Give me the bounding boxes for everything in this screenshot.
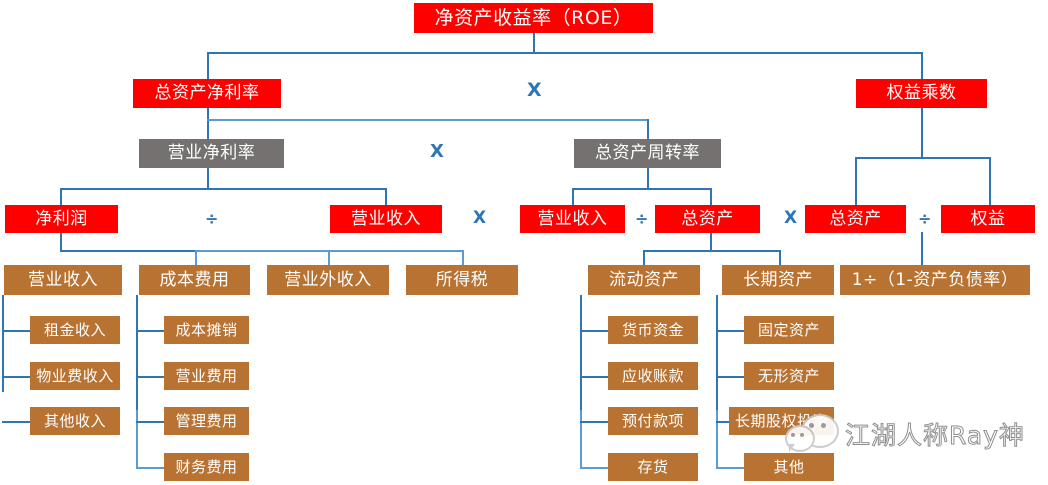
node-operating-revenue-l5[interactable]: 营业收入 bbox=[4, 265, 122, 295]
leaf-operating-expense[interactable]: 营业费用 bbox=[164, 362, 249, 390]
leaf-fixed-assets[interactable]: 固定资产 bbox=[744, 316, 834, 344]
connector-lta-leaf-stem bbox=[716, 295, 718, 412]
connector-to-asset-turnover bbox=[647, 119, 649, 139]
watermark: 江湖人称Ray神 bbox=[785, 412, 1025, 456]
wechat-eye-4 bbox=[800, 433, 804, 437]
connector-onpr-bus bbox=[60, 188, 387, 190]
connector-ca-leaf-4 bbox=[580, 467, 608, 469]
connector-to-total-assets-eq bbox=[855, 157, 857, 206]
connector-oprev-leaf-1 bbox=[2, 330, 30, 332]
node-net-profit[interactable]: 净利润 bbox=[5, 205, 118, 233]
node-equity[interactable]: 权益 bbox=[941, 205, 1035, 233]
node-roe[interactable]: 净资产收益率（ROE） bbox=[414, 3, 653, 33]
connector-onpr-stem bbox=[207, 168, 209, 190]
connector-tat-bus bbox=[572, 188, 711, 190]
connector-ca-leaf-stem-b bbox=[580, 410, 582, 468]
leaf-inventory[interactable]: 存货 bbox=[608, 453, 698, 481]
connector-cost-leaf-3 bbox=[136, 421, 164, 423]
connector-oprev-leaf-3 bbox=[2, 421, 30, 423]
connector-em-bus bbox=[855, 157, 991, 159]
leaf-finance-expense[interactable]: 财务费用 bbox=[164, 453, 249, 481]
connector-ca-leaf-stem bbox=[580, 295, 582, 412]
node-total-assets-equity[interactable]: 总资产 bbox=[805, 205, 906, 233]
connector-cost-leaf-4 bbox=[136, 467, 164, 469]
operator-mult-top: X bbox=[527, 81, 542, 100]
node-cost-expense[interactable]: 成本费用 bbox=[139, 265, 250, 295]
node-equity-formula[interactable]: 1÷（1-资产负债率） bbox=[840, 265, 1030, 295]
leaf-property-fee-income[interactable]: 物业费收入 bbox=[30, 362, 120, 390]
connector-cost-leaf-1 bbox=[136, 330, 164, 332]
leaf-cost-amortization[interactable]: 成本摊销 bbox=[164, 316, 249, 344]
connector-lta-leaf-2 bbox=[716, 376, 744, 378]
node-total-asset-net-profit-rate[interactable]: 总资产净利率 bbox=[133, 79, 281, 108]
wechat-logo-icon bbox=[785, 412, 837, 456]
leaf-monetary-funds[interactable]: 货币资金 bbox=[608, 316, 698, 344]
connector-to-total-assets-turn bbox=[710, 188, 712, 206]
connector-ca-leaf-1 bbox=[580, 330, 608, 332]
connector-ca-leaf-3 bbox=[580, 421, 608, 423]
connector-to-op-rev-l4 bbox=[385, 188, 387, 206]
leaf-prepayments[interactable]: 预付款项 bbox=[608, 407, 698, 435]
node-income-tax[interactable]: 所得税 bbox=[406, 265, 518, 295]
connector-to-lt-assets bbox=[779, 250, 781, 265]
node-total-assets-turnover[interactable]: 总资产 bbox=[655, 205, 760, 233]
connector-to-equity-multiplier bbox=[921, 52, 923, 79]
connector-to-tanpr bbox=[207, 52, 209, 79]
leaf-other-income[interactable]: 其他收入 bbox=[30, 407, 120, 435]
leaf-rental-income[interactable]: 租金收入 bbox=[30, 316, 120, 344]
operator-div-turnover: ÷ bbox=[635, 211, 648, 227]
connector-lta-leaf-stem-b bbox=[716, 410, 718, 468]
connector-em-stem bbox=[921, 108, 923, 158]
node-current-assets[interactable]: 流动资产 bbox=[588, 265, 700, 295]
operator-mult-profit: X bbox=[473, 210, 486, 227]
connector-roe-stem bbox=[533, 32, 535, 53]
connector-ta-bus bbox=[643, 250, 780, 252]
dupont-analysis-diagram: 净资产收益率（ROE） 总资产净利率 X 权益乘数 营业净利率 X 总资产周转率… bbox=[0, 0, 1048, 485]
connector-ca-leaf-2 bbox=[580, 376, 608, 378]
connector-np-bus-a bbox=[60, 250, 195, 252]
connector-to-equity bbox=[989, 157, 991, 206]
connector-tat-stem bbox=[647, 168, 649, 190]
node-operating-net-profit-rate[interactable]: 营业净利率 bbox=[139, 139, 284, 168]
node-equity-multiplier[interactable]: 权益乘数 bbox=[856, 79, 987, 108]
leaf-accounts-receivable[interactable]: 应收账款 bbox=[608, 362, 698, 390]
node-operating-revenue-l4[interactable]: 营业收入 bbox=[330, 205, 442, 233]
connector-cost-leaf-2 bbox=[136, 376, 164, 378]
wechat-eye-3 bbox=[791, 433, 795, 437]
connector-to-current-assets bbox=[643, 250, 645, 265]
connector-level2-bus bbox=[207, 52, 923, 54]
connector-cost-leaf-stem bbox=[136, 295, 138, 412]
leaf-admin-expense[interactable]: 管理费用 bbox=[164, 407, 249, 435]
connector-level3-bus bbox=[207, 119, 648, 121]
wechat-eye-2 bbox=[821, 423, 826, 428]
operator-div-profit: ÷ bbox=[205, 211, 218, 227]
connector-to-op-rev-turn bbox=[572, 188, 574, 206]
connector-to-net-profit bbox=[60, 188, 62, 206]
operator-mult-assets: X bbox=[784, 210, 797, 227]
operator-mult-mid: X bbox=[430, 143, 444, 161]
connector-eq-formula bbox=[921, 232, 923, 265]
wechat-bubble-tail bbox=[789, 444, 795, 452]
connector-cost-leaf-stem-b bbox=[136, 410, 138, 468]
node-long-term-assets[interactable]: 长期资产 bbox=[722, 265, 834, 295]
connector-oprev-leaf-2 bbox=[2, 376, 30, 378]
connector-lta-leaf-4 bbox=[716, 467, 744, 469]
leaf-intangible-assets[interactable]: 无形资产 bbox=[744, 362, 834, 390]
operator-div-equity: ÷ bbox=[918, 211, 931, 227]
connector-to-income-tax bbox=[462, 250, 464, 265]
node-non-operating-income[interactable]: 营业外收入 bbox=[267, 265, 389, 295]
watermark-text: 江湖人称Ray神 bbox=[845, 416, 1025, 452]
connector-to-cost-expense bbox=[195, 250, 197, 265]
connector-lta-leaf-1 bbox=[716, 330, 744, 332]
connector-ta-stem bbox=[710, 232, 712, 252]
node-total-asset-turnover[interactable]: 总资产周转率 bbox=[574, 139, 721, 168]
leaf-other-assets[interactable]: 其他 bbox=[744, 453, 834, 481]
node-operating-revenue-turnover[interactable]: 营业收入 bbox=[520, 205, 625, 233]
connector-to-non-op-income bbox=[328, 250, 330, 265]
connector-oprev-dup bbox=[60, 232, 62, 252]
